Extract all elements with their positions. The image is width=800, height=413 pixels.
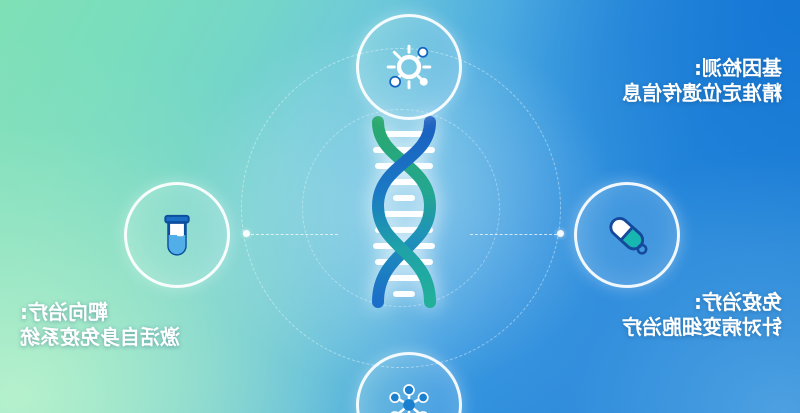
virus-cell-icon: [383, 41, 435, 93]
connector-line-right: [470, 234, 562, 235]
connector-dot-left: [243, 230, 250, 237]
label-targeted-therapy: 靶向治疗: 激活自身免疫系统: [20, 300, 270, 350]
label-targeted-title: 靶向治疗:: [20, 300, 270, 325]
node-test-tube[interactable]: [124, 182, 230, 288]
infographic-canvas: 基因检测: 精准定位遗传信息 免疫治疗: 针对病变细胞治疗 靶向治疗: 激活自身…: [0, 0, 800, 413]
label-genetic-testing: 基因检测: 精准定位遗传信息: [522, 56, 782, 106]
dna-double-helix-graphic: [352, 112, 456, 312]
node-virus-cell[interactable]: [356, 14, 462, 120]
test-tube-icon: [152, 210, 202, 260]
label-immune-desc: 针对病变细胞治疗: [522, 315, 782, 340]
label-targeted-desc: 激活自身免疫系统: [20, 325, 270, 350]
node-capsule-pill[interactable]: [574, 182, 680, 288]
label-immune-title: 免疫治疗:: [522, 290, 782, 315]
connector-dot-right: [557, 230, 564, 237]
connector-line-left: [246, 234, 338, 235]
label-genetic-title: 基因检测:: [522, 56, 782, 81]
label-immunotherapy: 免疫治疗: 针对病变细胞治疗: [522, 290, 782, 340]
capsule-pill-icon: [602, 210, 652, 260]
label-genetic-desc: 精准定位遗传信息: [522, 81, 782, 106]
molecule-nodes-icon: [384, 380, 434, 413]
